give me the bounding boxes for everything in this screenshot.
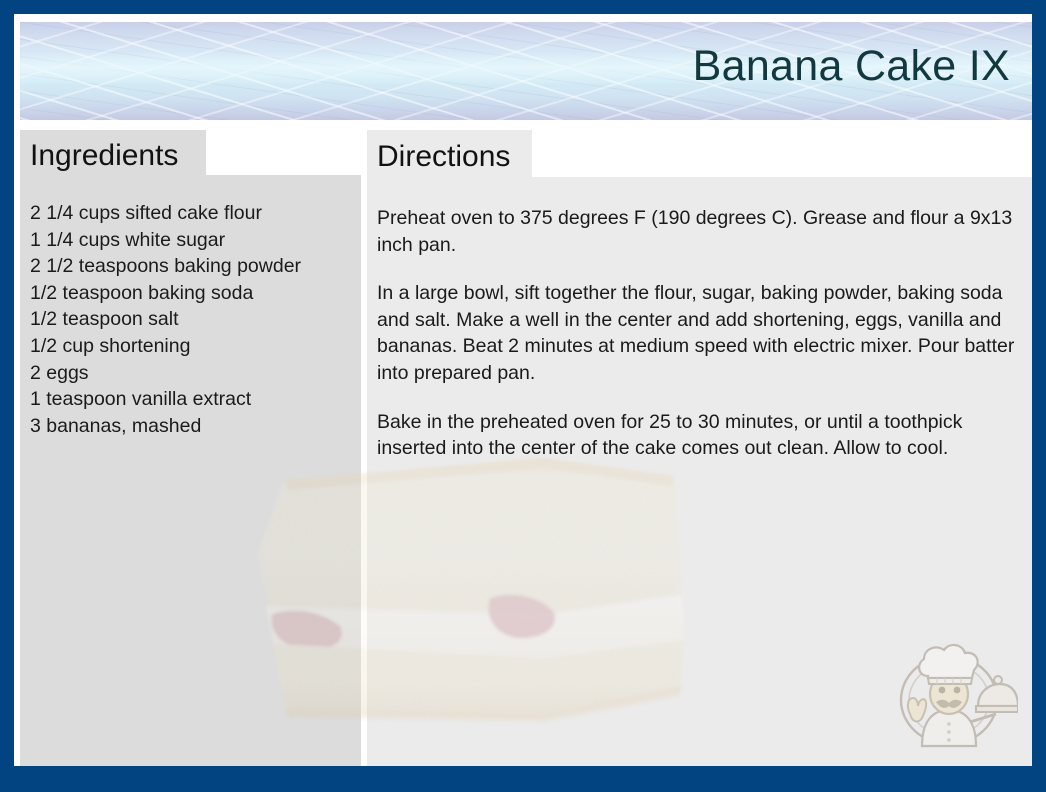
list-item: 1/2 teaspoon baking soda <box>30 280 360 307</box>
list-item: 3 bananas, mashed <box>30 413 360 440</box>
header-banner: Banana Cake IX <box>20 22 1032 120</box>
directions-heading: Directions <box>377 139 510 175</box>
list-item: 2 eggs <box>30 360 360 387</box>
page-title: Banana Cake IX <box>693 38 1010 94</box>
list-item: 2 1/2 teaspoons baking powder <box>30 253 360 280</box>
ingredients-list: 2 1/4 cups sifted cake flour 1 1/4 cups … <box>30 200 360 439</box>
ingredients-heading: Ingredients <box>30 138 178 174</box>
list-item: 2 1/4 cups sifted cake flour <box>30 200 360 227</box>
recipe-card-page: Banana Cake IX Ingredients 2 1/4 cups si… <box>0 0 1046 792</box>
list-item: 1 1/4 cups white sugar <box>30 227 360 254</box>
direction-step: Preheat oven to 375 degrees F (190 degre… <box>377 205 1031 258</box>
list-item: 1/2 cup shortening <box>30 333 360 360</box>
directions-steps: Preheat oven to 375 degrees F (190 degre… <box>377 205 1031 462</box>
direction-step: In a large bowl, sift together the flour… <box>377 280 1031 386</box>
card-inner-area: Banana Cake IX Ingredients 2 1/4 cups si… <box>14 14 1032 766</box>
list-item: 1 teaspoon vanilla extract <box>30 386 360 413</box>
list-item: 1/2 teaspoon salt <box>30 306 360 333</box>
direction-step: Bake in the preheated oven for 25 to 30 … <box>377 409 1031 462</box>
